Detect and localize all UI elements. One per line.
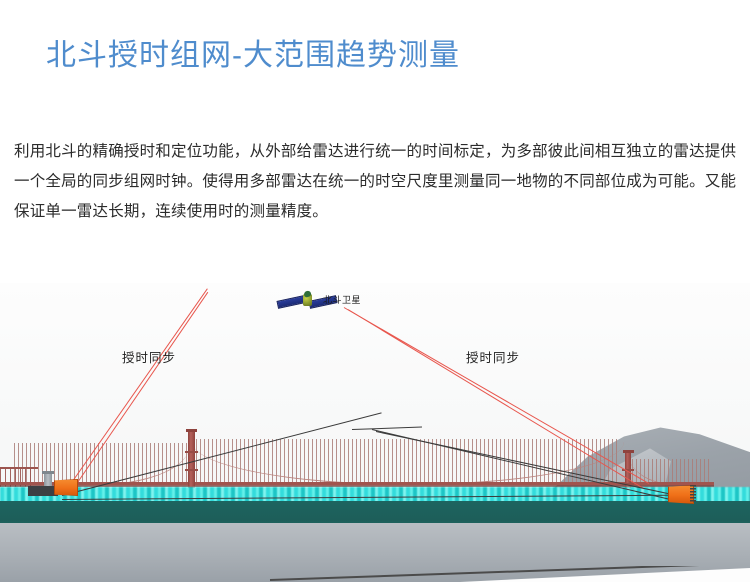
page-root: 北斗授时组网-大范围趋势测量 利用北斗的精确授时和定位功能，从外部给雷达进行统一… [0, 0, 750, 582]
ground-edge-highlight [460, 568, 750, 582]
radar-right-fins [690, 485, 696, 502]
bridge-viaduct-deck [0, 467, 38, 469]
description-line-2: 一个全局的同步组网时钟。使得用多部雷达在统一的时空尺度里测量同一地物的不同部位成… [14, 167, 740, 197]
description-line-1: 利用北斗的精确授时和定位功能，从外部给雷达进行统一的时间标定，为多部彼此间相互独… [14, 137, 740, 167]
illustration-panel: 北斗卫星 授时同步 授时同步 [0, 283, 750, 582]
satellite-label: 北斗卫星 [323, 293, 361, 307]
bridge-tower-main-crossbar-2 [185, 469, 198, 471]
label-sync-right: 授时同步 [466, 347, 520, 366]
page-title: 北斗授时组网-大范围趋势测量 [46, 36, 460, 76]
satellite-group: 北斗卫星 [275, 289, 379, 315]
radar-left-unit [54, 479, 78, 496]
ground-edge-line [0, 566, 750, 582]
radar-left-base [28, 486, 58, 496]
label-sync-left: 授时同步 [122, 347, 176, 366]
bridge-pier-left-cap [42, 471, 54, 474]
bridge-tower-main-crossbar-1 [185, 451, 198, 453]
bridge-tower-main-cap [186, 429, 197, 432]
description-line-3: 保证单一雷达长期，连续使用时的测量精度。 [14, 197, 740, 227]
bridge-tower-right-cap [623, 450, 634, 453]
description-block: 利用北斗的精确授时和定位功能，从外部给雷达进行统一的时间标定，为多部彼此间相互独… [14, 137, 740, 227]
satellite-solar-panel-left [276, 295, 305, 309]
